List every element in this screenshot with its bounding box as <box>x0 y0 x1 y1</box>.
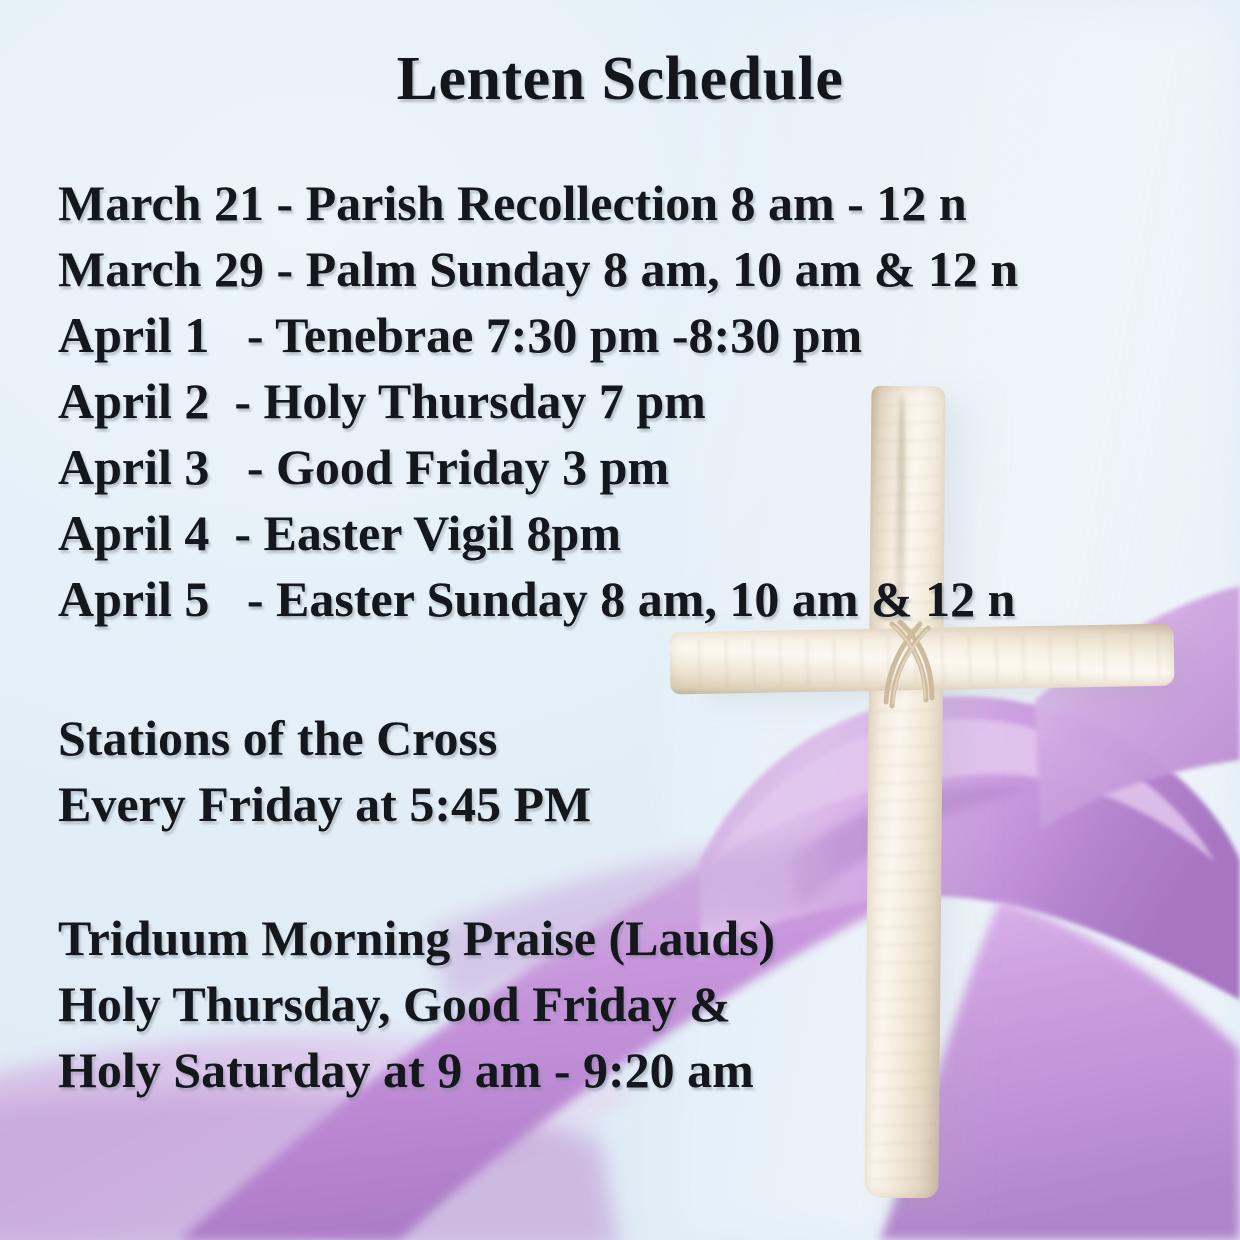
schedule-line: March 21 - Parish Recollection 8 am - 12… <box>58 170 1218 236</box>
schedule-line: March 29 - Palm Sunday 8 am, 10 am & 12 … <box>58 236 1218 302</box>
triduum-line-2: Holy Thursday, Good Friday & <box>58 971 1058 1037</box>
stations-of-the-cross-block: Stations of the Cross Every Friday at 5:… <box>58 705 958 837</box>
page-title: Lenten Schedule <box>0 44 1240 115</box>
schedule-list: March 21 - Parish Recollection 8 am - 12… <box>58 170 1218 632</box>
stations-detail: Every Friday at 5:45 PM <box>58 771 958 837</box>
schedule-line: April 5 - Easter Sunday 8 am, 10 am & 12… <box>58 566 1218 632</box>
schedule-line: April 4 - Easter Vigil 8pm <box>58 500 1218 566</box>
stations-heading: Stations of the Cross <box>58 705 958 771</box>
poster-content: Lenten Schedule March 21 - Parish Recoll… <box>0 0 1240 1240</box>
lenten-schedule-poster: Lenten Schedule March 21 - Parish Recoll… <box>0 0 1240 1240</box>
schedule-line: April 2 - Holy Thursday 7 pm <box>58 368 1218 434</box>
schedule-line: April 1 - Tenebrae 7:30 pm -8:30 pm <box>58 302 1218 368</box>
schedule-line: April 3 - Good Friday 3 pm <box>58 434 1218 500</box>
triduum-line-3: Holy Saturday at 9 am - 9:20 am <box>58 1037 1058 1103</box>
triduum-block: Triduum Morning Praise (Lauds) Holy Thur… <box>58 905 1058 1103</box>
triduum-heading: Triduum Morning Praise (Lauds) <box>58 905 1058 971</box>
